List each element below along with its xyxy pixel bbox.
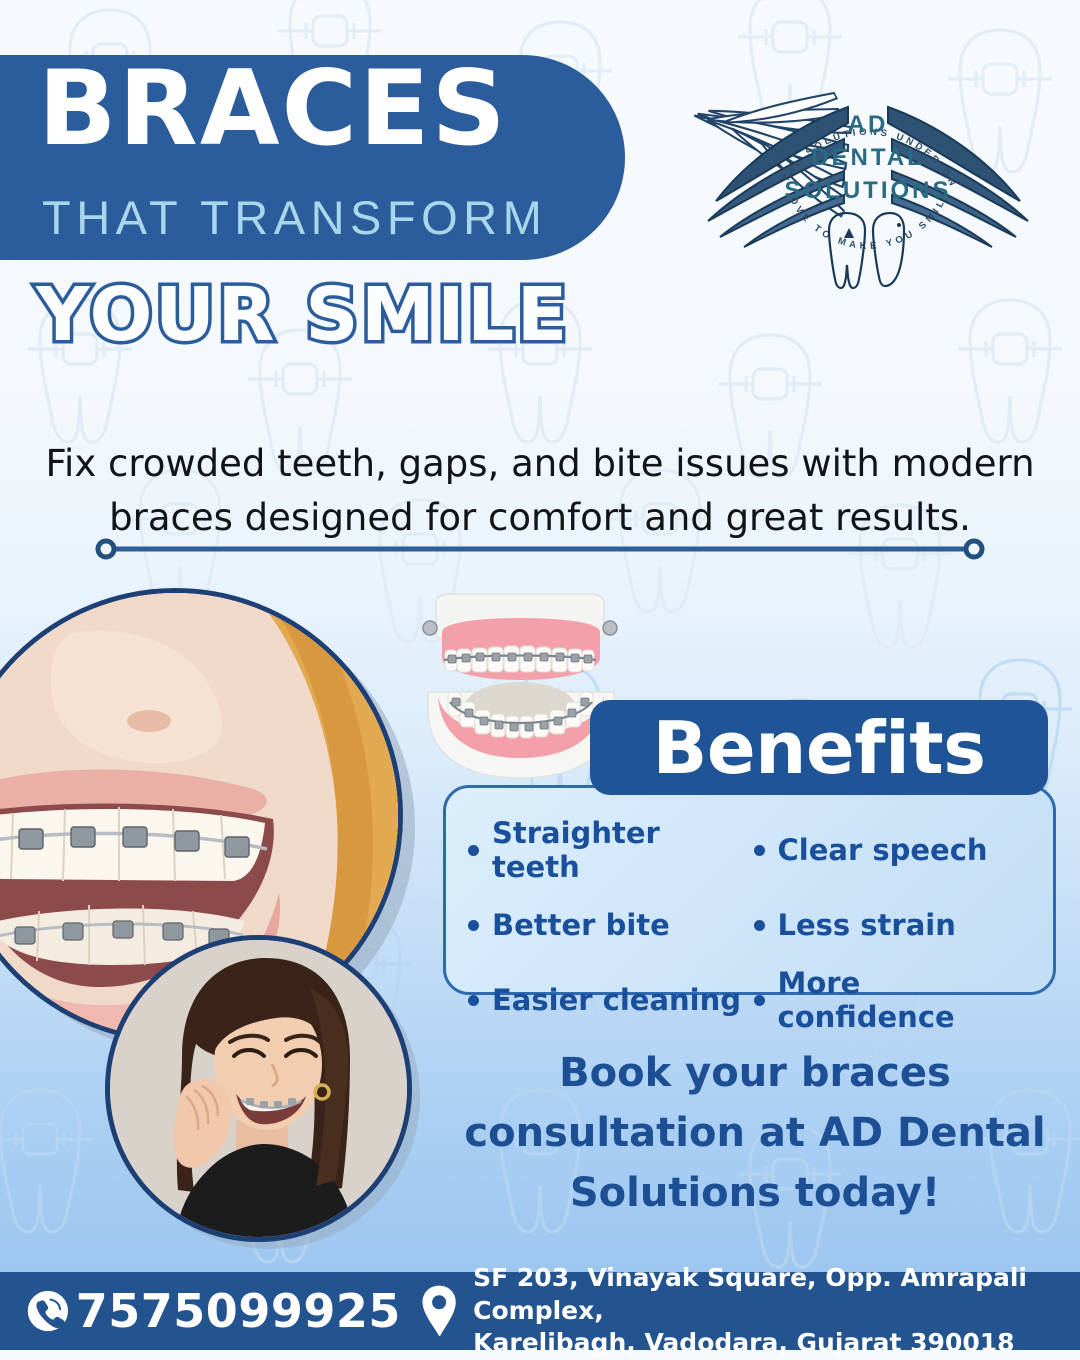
description-text: Fix crowded teeth, gaps, and bite issues…: [40, 437, 1040, 544]
benefit-label: Easier cleaning: [492, 983, 741, 1017]
benefit-label: Less strain: [778, 908, 956, 942]
address-line-2: Karelibagh, Vadodara, Gujarat 390018: [473, 1327, 1080, 1360]
benefits-title: Benefits: [652, 706, 985, 790]
photo-teen-with-braces: [105, 935, 412, 1242]
benefit-item: More confidence: [754, 966, 1040, 1034]
benefit-item: Better bite: [468, 908, 754, 942]
benefit-item: Easier cleaning: [468, 966, 754, 1034]
benefit-item: Straighter teeth: [468, 816, 754, 884]
bullet-icon: [754, 995, 765, 1006]
headline-smile-line: YOUR SMILE: [36, 272, 570, 358]
benefits-list: Straighter teeth Clear speech Better bit…: [468, 816, 1039, 1034]
benefit-label: Clear speech: [778, 833, 988, 867]
address-text: SF 203, Vinayak Square, Opp. Amrapali Co…: [473, 1262, 1080, 1360]
bullet-icon: [468, 995, 479, 1006]
logo-name-line2: DENTAL: [811, 144, 925, 171]
benefit-label: More confidence: [778, 966, 1040, 1034]
brand-logo: ALL DENTAL SOLUTIONS UNDER ONE ROOF LOVE…: [668, 35, 1068, 300]
benefit-item: Less strain: [754, 908, 1040, 942]
bullet-icon: [754, 845, 765, 856]
cta-text: Book your braces consultation at AD Dent…: [455, 1043, 1055, 1223]
bullet-icon: [468, 845, 479, 856]
page-subtitle: THAT TRANSFORM: [42, 190, 547, 245]
benefit-label: Straighter teeth: [492, 816, 754, 884]
benefit-label: Better bite: [492, 908, 670, 942]
address-line-1: SF 203, Vinayak Square, Opp. Amrapali Co…: [473, 1262, 1080, 1327]
location-pin-icon[interactable]: [419, 1280, 459, 1342]
logo-name-line3: SOLUTIONS: [784, 177, 951, 204]
footer-contact-bar: 7575099925 SF 203, Vinayak Square, Opp. …: [0, 1272, 1080, 1350]
phone-number[interactable]: 7575099925: [76, 1284, 401, 1338]
phone-icon[interactable]: [26, 1286, 70, 1336]
logo-name-line1: AD: [848, 111, 889, 138]
benefits-title-tag: Benefits: [590, 700, 1048, 795]
page-title: BRACES: [38, 60, 508, 159]
section-divider: [95, 538, 985, 560]
bullet-icon: [754, 920, 765, 931]
bullet-icon: [468, 920, 479, 931]
benefits-box: Straighter teeth Clear speech Better bit…: [443, 785, 1056, 995]
benefit-item: Clear speech: [754, 816, 1040, 884]
